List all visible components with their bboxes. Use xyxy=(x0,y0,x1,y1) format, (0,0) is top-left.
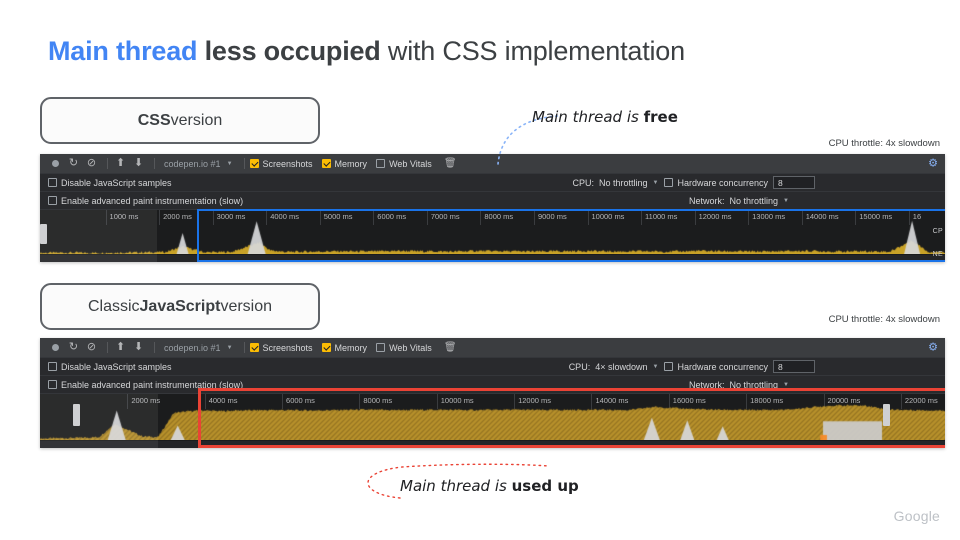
devtools-settings-row-2-js: Enable advanced paint instrumentation (s… xyxy=(40,376,945,394)
css-pill-bold: CSS xyxy=(138,112,171,130)
cpu-throttle-caption-css: CPU throttle: 4x slowdown xyxy=(740,138,940,149)
devtools-toolbar-css: ↻ ⊘ ⬆ ⬇ codepen.io #1 ▼ Screenshots Memo… xyxy=(40,154,945,174)
annotation-used-text: Main thread is xyxy=(400,477,512,495)
mini-cpu-label: CP xyxy=(933,228,943,235)
checkbox-box-memory[interactable] xyxy=(322,159,331,168)
clear-icon[interactable]: ⊘ xyxy=(84,340,99,355)
checkbox-label-memory: Memory xyxy=(335,159,368,169)
checkbox-label-web-vitals: Web Vitals xyxy=(389,343,432,353)
google-wordmark: Google xyxy=(894,508,940,524)
cpu-activity-graph-css xyxy=(40,220,945,254)
chevron-down-icon-network[interactable]: ▼ xyxy=(783,382,789,388)
cpu-activity-graph-js xyxy=(40,404,945,440)
record-icon[interactable] xyxy=(48,340,63,355)
chevron-down-icon-cpu[interactable]: ▼ xyxy=(653,180,659,186)
reload-icon[interactable]: ↻ xyxy=(66,340,81,355)
toolbar-divider xyxy=(107,158,108,169)
checkbox-advanced-paint[interactable] xyxy=(48,380,57,389)
network-throttle-control-js[interactable]: Network: No throttling ▼ xyxy=(689,380,789,390)
profile-selector-label[interactable]: codepen.io #1 xyxy=(164,159,221,169)
timeline-overview-css[interactable]: 1000 ms2000 ms3000 ms4000 ms5000 ms6000 … xyxy=(40,210,945,262)
checkbox-memory[interactable]: Memory xyxy=(322,343,368,353)
checkbox-box-web-vitals[interactable] xyxy=(376,343,385,352)
checkbox-box-screenshots[interactable] xyxy=(250,159,259,168)
label-advanced-paint: Enable advanced paint instrumentation (s… xyxy=(61,196,243,206)
js-pill-bold: JavaScript xyxy=(140,298,221,316)
network-value[interactable]: No throttling xyxy=(730,196,779,206)
toolbar-divider xyxy=(107,342,108,353)
cpu-throttle-control-css[interactable]: CPU: No throttling ▼ xyxy=(572,178,658,188)
download-icon[interactable]: ⬇ xyxy=(131,340,146,355)
checkbox-hardware-concurrency[interactable] xyxy=(664,362,673,371)
reload-icon[interactable]: ↻ xyxy=(66,156,81,171)
overview-dimmed-region-css xyxy=(40,210,157,262)
devtools-panel-css: ↻ ⊘ ⬆ ⬇ codepen.io #1 ▼ Screenshots Memo… xyxy=(40,154,945,262)
label-disable-js-samples: Disable JavaScript samples xyxy=(61,362,172,372)
page-title: Main thread less occupied with CSS imple… xyxy=(48,36,685,67)
javascript-version-label: Classic JavaScript version xyxy=(40,283,320,330)
overview-left-handle-css[interactable] xyxy=(40,224,47,244)
label-hardware-concurrency: Hardware concurrency xyxy=(677,362,768,372)
checkbox-label-memory: Memory xyxy=(335,343,368,353)
title-part-blue: Main thread xyxy=(48,36,197,66)
checkbox-label-screenshots: Screenshots xyxy=(263,159,313,169)
checkbox-web-vitals[interactable]: Web Vitals xyxy=(376,343,432,353)
checkbox-hardware-concurrency[interactable] xyxy=(664,178,673,187)
slide: Main thread less occupied with CSS imple… xyxy=(0,0,960,540)
annotation-used-bold: used up xyxy=(512,477,579,495)
devtools-settings-row-1-js: Disable JavaScript samples CPU: 4× slowd… xyxy=(40,358,945,376)
checkbox-box-screenshots[interactable] xyxy=(250,343,259,352)
hardware-concurrency-input[interactable]: 8 xyxy=(773,176,815,189)
chevron-down-icon-cpu[interactable]: ▼ xyxy=(653,364,659,370)
overview-left-handle-js[interactable] xyxy=(73,404,80,426)
devtools-settings-row-2-css: Enable advanced paint instrumentation (s… xyxy=(40,192,945,210)
devtools-panel-js: ↻ ⊘ ⬆ ⬇ codepen.io #1 ▼ Screenshots Memo… xyxy=(40,338,945,448)
chevron-down-icon-network[interactable]: ▼ xyxy=(783,198,789,204)
title-part-light: with CSS implementation xyxy=(381,36,685,66)
cpu-value[interactable]: No throttling xyxy=(599,178,648,188)
annotation-main-thread-free: Main thread is free xyxy=(532,108,678,126)
annotation-main-thread-used-up: Main thread is used up xyxy=(400,477,579,495)
checkbox-memory[interactable]: Memory xyxy=(322,159,368,169)
gear-icon[interactable]: ⚙ xyxy=(928,158,938,169)
download-icon[interactable]: ⬇ xyxy=(131,156,146,171)
devtools-toolbar-js: ↻ ⊘ ⬆ ⬇ codepen.io #1 ▼ Screenshots Memo… xyxy=(40,338,945,358)
upload-icon[interactable]: ⬆ xyxy=(113,156,128,171)
toolbar-divider-2 xyxy=(154,158,155,169)
cpu-label: CPU: xyxy=(569,362,591,372)
label-hardware-concurrency: Hardware concurrency xyxy=(677,178,768,188)
toolbar-divider-3 xyxy=(244,158,245,169)
checkbox-advanced-paint[interactable] xyxy=(48,196,57,205)
checkbox-screenshots[interactable]: Screenshots xyxy=(250,343,313,353)
cpu-throttle-caption-js: CPU throttle: 4x slowdown xyxy=(740,314,940,325)
annotation-free-bold: free xyxy=(644,108,678,126)
title-part-bold: less occupied xyxy=(197,36,380,66)
js-pill-pre: Classic xyxy=(88,298,140,316)
overview-dimmed-region-js xyxy=(40,394,158,448)
trash-icon[interactable]: 🗑 xyxy=(443,156,458,171)
checkbox-screenshots[interactable]: Screenshots xyxy=(250,159,313,169)
hardware-concurrency-control-js[interactable]: Hardware concurrency 8 xyxy=(664,360,815,373)
clear-icon[interactable]: ⊘ xyxy=(84,156,99,171)
gear-icon[interactable]: ⚙ xyxy=(928,342,938,353)
checkbox-web-vitals[interactable]: Web Vitals xyxy=(376,159,432,169)
network-band-js xyxy=(40,441,945,448)
overview-right-handle-js[interactable] xyxy=(883,404,890,426)
profile-selector-label[interactable]: codepen.io #1 xyxy=(164,343,221,353)
chevron-down-icon[interactable]: ▼ xyxy=(227,161,233,167)
network-value[interactable]: No throttling xyxy=(730,380,779,390)
record-icon[interactable] xyxy=(48,156,63,171)
checkbox-box-web-vitals[interactable] xyxy=(376,159,385,168)
chevron-down-icon[interactable]: ▼ xyxy=(227,345,233,351)
network-label: Network: xyxy=(689,380,725,390)
network-label: Network: xyxy=(689,196,725,206)
checkbox-box-memory[interactable] xyxy=(322,343,331,352)
upload-icon[interactable]: ⬆ xyxy=(113,340,128,355)
network-throttle-control-css[interactable]: Network: No throttling ▼ xyxy=(689,196,789,206)
annotation-free-text: Main thread is xyxy=(532,108,644,126)
trash-icon[interactable]: 🗑 xyxy=(443,340,458,355)
js-pill-rest: version xyxy=(220,298,272,316)
css-version-label: CSS version xyxy=(40,97,320,144)
timeline-overview-js[interactable]: 2000 ms4000 ms6000 ms8000 ms10000 ms1200… xyxy=(40,394,945,448)
toolbar-divider-3 xyxy=(244,342,245,353)
label-disable-js-samples: Disable JavaScript samples xyxy=(61,178,172,188)
checkbox-disable-js-samples[interactable] xyxy=(48,178,57,187)
mini-net-label: NE xyxy=(933,251,943,258)
devtools-settings-row-1-css: Disable JavaScript samples CPU: No throt… xyxy=(40,174,945,192)
network-band-css xyxy=(40,255,945,262)
cpu-throttle-control-js[interactable]: CPU: 4× slowdown ▼ xyxy=(569,362,659,372)
cpu-label: CPU: xyxy=(572,178,594,188)
checkbox-label-screenshots: Screenshots xyxy=(263,343,313,353)
css-pill-rest: version xyxy=(171,112,223,130)
toolbar-divider-2 xyxy=(154,342,155,353)
hardware-concurrency-control-css[interactable]: Hardware concurrency 8 xyxy=(664,176,815,189)
hardware-concurrency-input[interactable]: 8 xyxy=(773,360,815,373)
label-advanced-paint: Enable advanced paint instrumentation (s… xyxy=(61,380,243,390)
checkbox-label-web-vitals: Web Vitals xyxy=(389,159,432,169)
cpu-value[interactable]: 4× slowdown xyxy=(595,362,647,372)
checkbox-disable-js-samples[interactable] xyxy=(48,362,57,371)
